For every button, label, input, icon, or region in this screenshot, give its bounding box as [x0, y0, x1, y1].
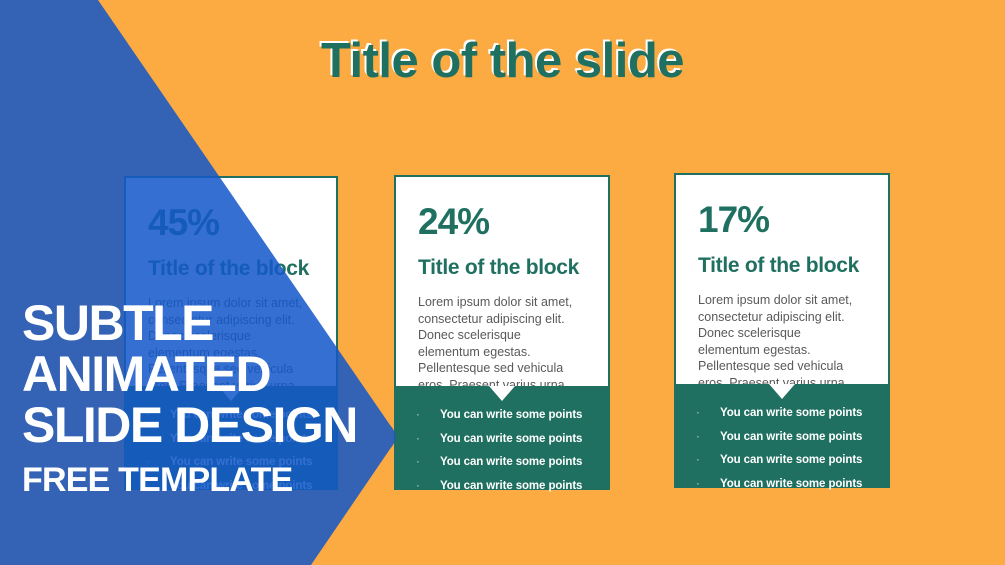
promo-line-3: SLIDE DESIGN — [22, 402, 422, 449]
list-item[interactable]: · You can write some points — [416, 481, 596, 493]
list-item-label: You can write some points — [720, 407, 862, 419]
bullet-icon: · — [696, 479, 700, 491]
list-item-label: You can write some points — [720, 431, 862, 443]
bullet-icon: · — [696, 432, 700, 444]
list-item-label: You can write some points — [720, 454, 862, 466]
page-title: Title of the slide — [0, 33, 1005, 89]
stat-card-2-bullet-list: · You can write some points · You can wr… — [394, 410, 610, 492]
stat-card-1-heading: Title of the block — [148, 257, 314, 280]
triangle-down-icon — [489, 386, 515, 401]
list-item-label: You can write some points — [440, 433, 582, 445]
stat-card-3-bottom: · You can write some points · You can wr… — [674, 384, 890, 488]
triangle-down-icon — [769, 384, 795, 399]
stat-card-3[interactable]: 17% Title of the block Lorem ipsum dolor… — [674, 173, 890, 488]
list-item[interactable]: · You can write some points — [416, 410, 596, 422]
list-item[interactable]: · You can write some points — [416, 434, 596, 446]
stat-card-1-percent: 45% — [148, 204, 314, 241]
stat-card-3-top: 17% Title of the block Lorem ipsum dolor… — [674, 173, 890, 384]
list-item[interactable]: · You can write some points — [696, 408, 876, 420]
stat-card-2[interactable]: 24% Title of the block Lorem ipsum dolor… — [394, 175, 610, 490]
promo-headline-group: SUBTLE ANIMATED SLIDE DESIGN FREE TEMPLA… — [22, 300, 422, 497]
stat-card-3-percent: 17% — [698, 201, 866, 238]
bullet-icon: · — [696, 455, 700, 467]
list-item[interactable]: · You can write some points — [696, 455, 876, 467]
stat-card-2-top: 24% Title of the block Lorem ipsum dolor… — [394, 175, 610, 386]
list-item-label: You can write some points — [440, 480, 582, 492]
stat-card-3-heading: Title of the block — [698, 254, 866, 277]
stat-card-2-heading: Title of the block — [418, 256, 586, 279]
list-item[interactable]: · You can write some points — [696, 479, 876, 491]
promo-line-1: SUBTLE — [22, 300, 422, 347]
stat-card-3-bullet-list: · You can write some points · You can wr… — [674, 408, 890, 490]
stat-card-2-bottom: · You can write some points · You can wr… — [394, 386, 610, 490]
slide-canvas: Title of the slide 45% Title of the bloc… — [0, 0, 1005, 565]
list-item[interactable]: · You can write some points — [696, 432, 876, 444]
list-item[interactable]: · You can write some points — [416, 457, 596, 469]
promo-subtitle: FREE TEMPLATE — [22, 463, 422, 497]
bullet-icon: · — [696, 408, 700, 420]
list-item-label: You can write some points — [440, 409, 582, 421]
stat-card-2-percent: 24% — [418, 203, 586, 240]
promo-line-2: ANIMATED — [22, 351, 422, 398]
list-item-label: You can write some points — [720, 478, 862, 490]
list-item-label: You can write some points — [440, 456, 582, 468]
